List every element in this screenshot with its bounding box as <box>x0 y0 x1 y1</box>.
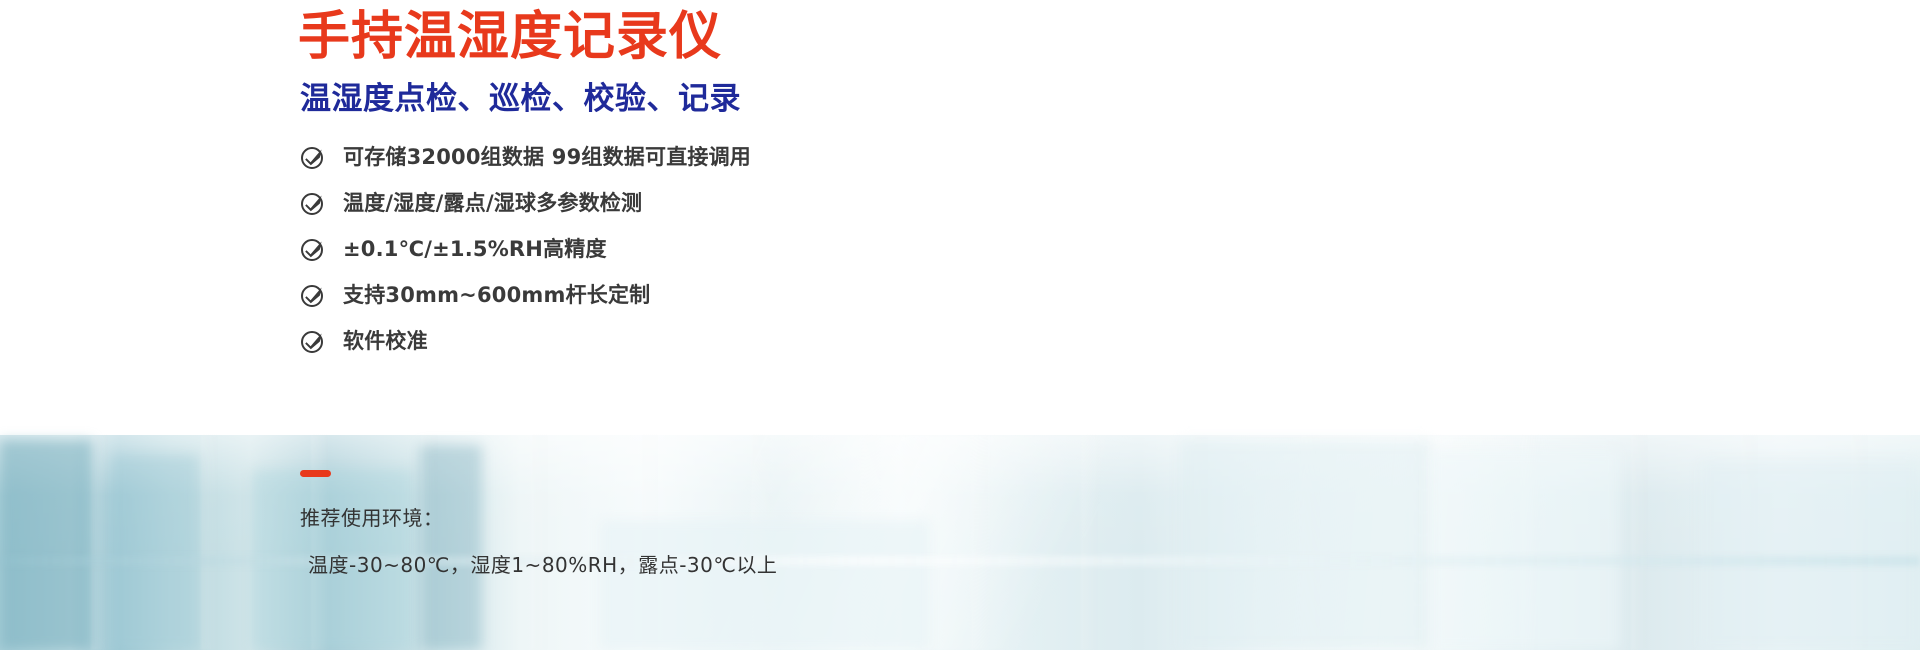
environment-title: 推荐使用环境： <box>300 504 777 532</box>
copy-column: 手持温湿度记录仪 温湿度点检、巡检、校验、记录 可存储32000组数据 99组数… <box>0 0 980 650</box>
feature-list: 可存储32000组数据 99组数据可直接调用 温度/湿度/露点/湿球多参数检测 <box>300 134 751 364</box>
check-circle-icon <box>300 144 326 170</box>
list-item: 软件校准 <box>300 318 751 364</box>
list-item-label: ±0.1℃/±1.5%RH高精度 <box>343 236 607 262</box>
list-item: 温度/湿度/露点/湿球多参数检测 <box>300 180 751 226</box>
check-circle-icon <box>300 282 326 308</box>
check-circle-icon <box>300 236 326 262</box>
list-item-label: 温度/湿度/露点/湿球多参数检测 <box>343 190 642 216</box>
product-banner: 手持温湿度记录仪 温湿度点检、巡检、校验、记录 可存储32000组数据 99组数… <box>0 0 1920 650</box>
product-image-area: 可拆换探头 HENGKO 52.0 % RH 28.08 ℃ HG970 MAX… <box>960 0 1920 650</box>
check-circle-icon <box>300 190 326 216</box>
environment-detail: 温度-30~80℃，湿度1~80%RH，露点-30℃以上 <box>308 551 777 579</box>
list-item-label: 可存储32000组数据 99组数据可直接调用 <box>343 144 751 170</box>
page-subtitle: 温湿度点检、巡检、校验、记录 <box>300 80 741 118</box>
page-title: 手持温湿度记录仪 <box>298 8 722 66</box>
list-item: 可存储32000组数据 99组数据可直接调用 <box>300 134 751 180</box>
check-circle-icon <box>300 328 326 354</box>
list-item: ±0.1℃/±1.5%RH高精度 <box>300 226 751 272</box>
environment-note: 推荐使用环境： 温度-30~80℃，湿度1~80%RH，露点-30℃以上 <box>300 470 777 579</box>
list-item-label: 支持30mm~600mm杆长定制 <box>343 282 650 308</box>
list-item: 支持30mm~600mm杆长定制 <box>300 272 751 318</box>
accent-dash <box>300 470 331 477</box>
list-item-label: 软件校准 <box>343 328 428 354</box>
